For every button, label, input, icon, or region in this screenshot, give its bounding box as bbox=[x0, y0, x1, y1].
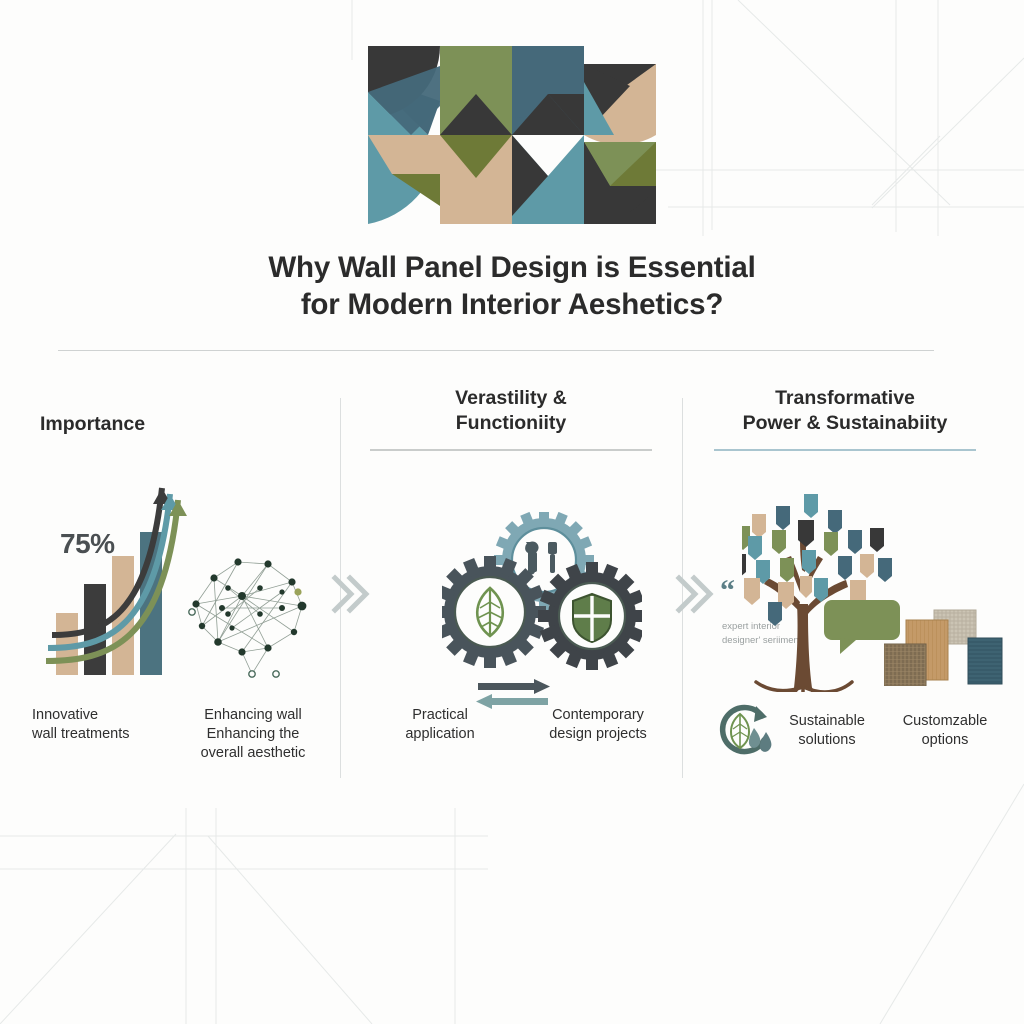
caption-sustainable-solutions: Sustainable solutions bbox=[772, 712, 882, 750]
caption-line: Sustainable solutions bbox=[772, 712, 882, 750]
heading-line-1: Transformative bbox=[686, 386, 1004, 411]
shield-icon bbox=[573, 594, 611, 642]
page-title: Why Wall Panel Design is Essential for M… bbox=[0, 250, 1024, 323]
heading-line-2: Power & Sustainabiity bbox=[686, 411, 1004, 436]
caption-line: Contemporary design projects bbox=[528, 706, 668, 744]
recycle-leaf-drop-icon bbox=[714, 700, 780, 762]
swatch-blue bbox=[968, 638, 1002, 684]
caption-line: Innovative wall treatments bbox=[32, 706, 172, 744]
column-versatility: Verastility & Functioniity bbox=[352, 386, 670, 451]
caption-customizable-options: Customzable options bbox=[886, 712, 1004, 750]
column-transformative-heading: Transformative Power & Sustainabiity bbox=[686, 386, 1004, 435]
brand-logo bbox=[368, 46, 658, 224]
column-versatility-underline bbox=[370, 449, 652, 451]
column-importance: Importance bbox=[28, 386, 338, 437]
title-line-1: Why Wall Panel Design is Essential bbox=[268, 251, 755, 284]
arrow-right-icon bbox=[478, 679, 550, 694]
chevron-double-right-icon bbox=[674, 572, 714, 616]
caption-contemporary-design-projects: Contemporary design projects bbox=[528, 706, 668, 744]
heading-line-1: Verastility & bbox=[352, 386, 670, 411]
title-line-2: for Modern Interior Aeshetics? bbox=[0, 287, 1024, 324]
caption-line: Customzable options bbox=[886, 712, 1004, 750]
network-brain-diagram bbox=[182, 548, 322, 678]
gear-shield bbox=[538, 562, 642, 670]
caption-line: Enhancing wall Enhancing the overall aes… bbox=[180, 706, 326, 763]
caption-innovative-wall-treatments: Innovative wall treatments bbox=[32, 706, 172, 744]
title-divider bbox=[58, 350, 934, 351]
heading-line-2: Functioniity bbox=[352, 411, 670, 436]
column-transformative-underline bbox=[714, 449, 976, 451]
caption-enhancing-overall-aesthetic: Enhancing wall Enhancing the overall aes… bbox=[180, 706, 326, 763]
column-versatility-heading: Verastility & Functioniity bbox=[352, 386, 670, 435]
material-swatches bbox=[884, 604, 1006, 686]
swatch-weave bbox=[884, 644, 926, 686]
bar-chart-with-growth-arrows bbox=[44, 478, 204, 678]
column-importance-heading: Importance bbox=[28, 386, 338, 437]
caption-practical-application: Practical application bbox=[374, 706, 506, 744]
column-transformative-power: Transformative Power & Sustainabiity bbox=[686, 386, 1004, 451]
gear-cluster-leaf-tools-shield bbox=[442, 512, 642, 672]
chevron-double-right-icon bbox=[330, 572, 370, 616]
leaf-icon bbox=[731, 714, 749, 748]
quote-open-icon: “ bbox=[720, 576, 735, 606]
caption-line: Practical application bbox=[374, 706, 506, 744]
